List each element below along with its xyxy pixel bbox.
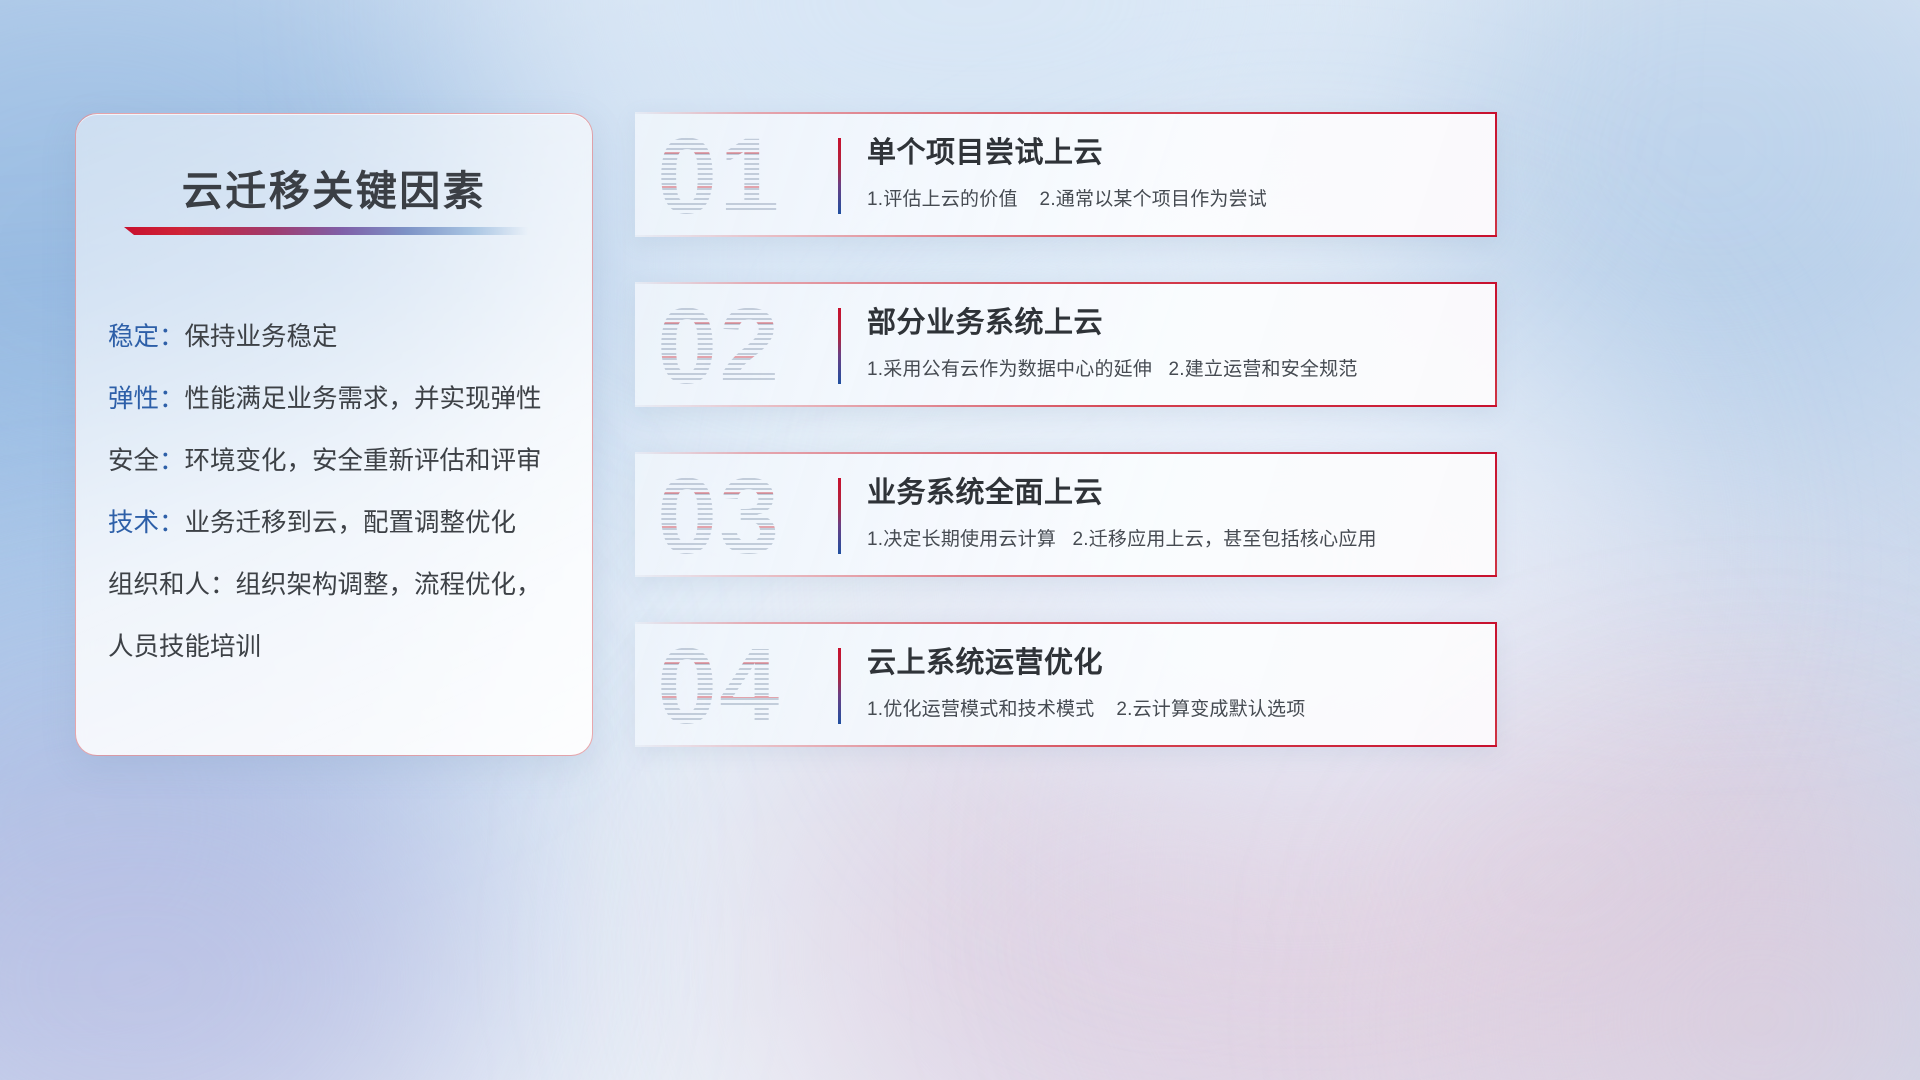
card-subtitle: 1.决定长期使用云计算 2.迁移应用上云，甚至包括核心应用 — [867, 524, 1473, 551]
stage-card[interactable]: 0404云上系统运营优化1.优化运营模式和技术模式 2.云计算变成默认选项 — [635, 622, 1497, 747]
card-number-red-tint: 02 — [657, 288, 837, 404]
stage-card[interactable]: 0303业务系统全面上云1.决定长期使用云计算 2.迁移应用上云，甚至包括核心应… — [635, 452, 1497, 577]
card-number-red-tint: 04 — [657, 628, 837, 744]
card-right-accent — [1495, 452, 1497, 577]
card-subtitle: 1.评估上云的价值 2.通常以某个项目作为尝试 — [867, 184, 1473, 211]
card-number-red-tint: 01 — [657, 118, 837, 234]
factor-row: 安全： 环境变化，安全重新评估和评审 — [108, 431, 570, 493]
factor-value: 组织架构调整，流程优化， — [236, 570, 542, 602]
card-body: 部分业务系统上云1.采用公有云作为数据中心的延伸 2.建立运营和安全规范 — [867, 306, 1473, 381]
card-title: 云上系统运营优化 — [867, 646, 1473, 681]
factor-row: 弹性： 性能满足业务需求，并实现弹性 — [108, 369, 570, 431]
factor-row: 稳定： 保持业务稳定 — [108, 307, 570, 369]
card-title: 部分业务系统上云 — [867, 306, 1473, 341]
factor-key: 安全 — [108, 446, 159, 478]
factor-value: 环境变化，安全重新评估和评审 — [185, 446, 542, 478]
card-right-accent — [1495, 282, 1497, 407]
stage-cards-list: 0101单个项目尝试上云1.评估上云的价值 2.通常以某个项目作为尝试0202部… — [635, 112, 1497, 792]
factor-separator: ： — [159, 384, 185, 416]
factor-list: 稳定： 保持业务稳定弹性： 性能满足业务需求，并实现弹性安全： 环境变化，安全重… — [108, 307, 570, 679]
factor-key: 弹性 — [108, 384, 159, 416]
factor-row: 技术： 业务迁移到云，配置调整优化 — [108, 493, 570, 555]
factor-value: 人员技能培训 — [108, 632, 261, 664]
card-divider-bar — [838, 478, 841, 554]
factor-separator: ： — [159, 446, 185, 478]
card-subtitle: 1.采用公有云作为数据中心的延伸 2.建立运营和安全规范 — [867, 354, 1473, 381]
factor-key: 稳定 — [108, 322, 159, 354]
factor-value: 保持业务稳定 — [185, 322, 338, 354]
card-right-accent — [1495, 112, 1497, 237]
factor-row: 组织和人： 组织架构调整，流程优化， — [108, 555, 570, 617]
factor-row: 人员技能培训 — [108, 617, 570, 679]
card-subtitle: 1.优化运营模式和技术模式 2.云计算变成默认选项 — [867, 694, 1473, 721]
card-divider-bar — [838, 648, 841, 724]
factor-separator: ： — [159, 322, 185, 354]
card-body: 云上系统运营优化1.优化运营模式和技术模式 2.云计算变成默认选项 — [867, 646, 1473, 721]
factor-separator: ： — [210, 570, 236, 602]
card-body: 单个项目尝试上云1.评估上云的价值 2.通常以某个项目作为尝试 — [867, 136, 1473, 211]
card-title: 单个项目尝试上云 — [867, 136, 1473, 171]
factor-value: 业务迁移到云，配置调整优化 — [185, 508, 517, 540]
factor-key: 技术 — [108, 508, 159, 540]
card-body: 业务系统全面上云1.决定长期使用云计算 2.迁移应用上云，甚至包括核心应用 — [867, 476, 1473, 551]
factor-separator: ： — [159, 508, 185, 540]
stage-card[interactable]: 0202部分业务系统上云1.采用公有云作为数据中心的延伸 2.建立运营和安全规范 — [635, 282, 1497, 407]
card-title: 业务系统全面上云 — [867, 476, 1473, 511]
factor-key: 组织和人 — [108, 570, 210, 602]
card-divider-bar — [838, 308, 841, 384]
key-factors-panel: 云迁移关键因素 稳定： 保持业务稳定弹性： 性能满足业务需求，并实现弹性安全： … — [75, 113, 593, 756]
card-divider-bar — [838, 138, 841, 214]
title-underline-accent — [124, 227, 528, 235]
factor-value: 性能满足业务需求，并实现弹性 — [185, 384, 542, 416]
card-right-accent — [1495, 622, 1497, 747]
card-number-red-tint: 03 — [657, 458, 837, 574]
stage-card[interactable]: 0101单个项目尝试上云1.评估上云的价值 2.通常以某个项目作为尝试 — [635, 112, 1497, 237]
panel-title: 云迁移关键因素 — [76, 157, 592, 217]
